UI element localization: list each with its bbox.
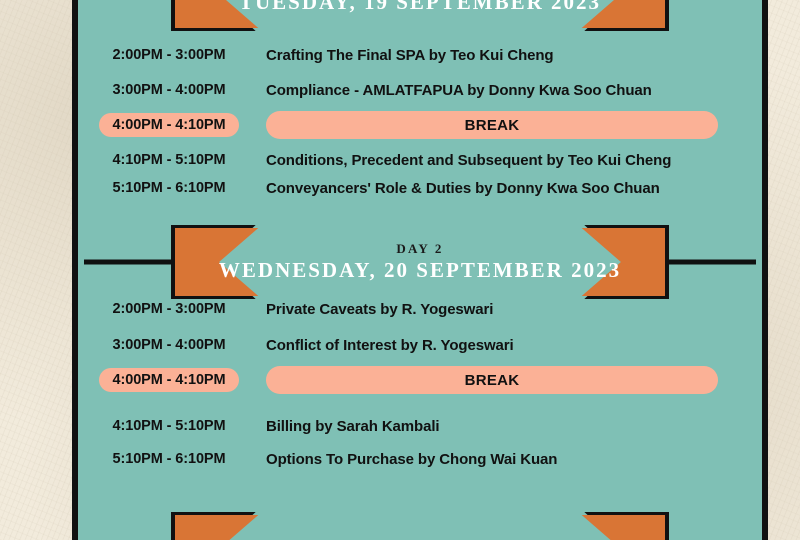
- banner-ribbon: [175, 228, 665, 296]
- row-title: Private Caveats by R. Yogeswari: [260, 301, 762, 318]
- row-time: 2:00PM - 3:00PM: [78, 301, 260, 317]
- row-time: 2:00PM - 3:00PM: [78, 47, 260, 63]
- day-banner-3: DAY 3: [78, 515, 762, 540]
- row-time-break: 4:00PM - 4:10PM: [78, 368, 260, 393]
- schedule-row[interactable]: 4:10PM - 5:10PM Billing by Sarah Kambali: [78, 409, 762, 443]
- schedule-body: DAY 1 TUESDAY, 19 SEPTEMBER 2023 2:00PM …: [78, 0, 762, 540]
- row-time: 4:10PM - 5:10PM: [78, 152, 260, 168]
- schedule-row-break[interactable]: 4:00PM - 4:10PM BREAK: [78, 108, 762, 142]
- schedule-row[interactable]: 5:10PM - 6:10PM Conveyancers' Role & Dut…: [78, 171, 762, 205]
- row-time: 5:10PM - 6:10PM: [78, 451, 260, 467]
- banner-text-group: DAY 2 WEDNESDAY, 20 SEPTEMBER 2023: [175, 228, 665, 296]
- schedule-row[interactable]: 5:10PM - 6:10PM Options To Purchase by C…: [78, 442, 762, 476]
- row-time-break: 4:00PM - 4:10PM: [78, 113, 260, 138]
- row-time: 5:10PM - 6:10PM: [78, 180, 260, 196]
- schedule-row[interactable]: 3:00PM - 4:00PM Conflict of Interest by …: [78, 328, 762, 362]
- row-title: Compliance - AMLATFAPUA by Donny Kwa Soo…: [260, 82, 762, 99]
- row-title: Conditions, Precedent and Subsequent by …: [260, 152, 762, 169]
- schedule-row[interactable]: 2:00PM - 3:00PM Private Caveats by R. Yo…: [78, 292, 762, 326]
- row-title: Billing by Sarah Kambali: [260, 418, 762, 435]
- banner-ribbon: [175, 0, 665, 28]
- day-banner-1: DAY 1 TUESDAY, 19 SEPTEMBER 2023: [78, 0, 762, 28]
- break-bar: BREAK: [266, 366, 718, 394]
- break-time-pill: 4:00PM - 4:10PM: [99, 368, 240, 393]
- schedule-row[interactable]: 2:00PM - 3:00PM Crafting The Final SPA b…: [78, 38, 762, 72]
- row-title: Conveyancers' Role & Duties by Donny Kwa…: [260, 180, 762, 197]
- banner-ribbon: [175, 515, 665, 540]
- row-time: 3:00PM - 4:00PM: [78, 337, 260, 353]
- row-time: 4:10PM - 5:10PM: [78, 418, 260, 434]
- schedule-row[interactable]: 3:00PM - 4:00PM Compliance - AMLATFAPUA …: [78, 73, 762, 107]
- day-date-label: WEDNESDAY, 20 SEPTEMBER 2023: [219, 258, 621, 282]
- day-date-label: TUESDAY, 19 SEPTEMBER 2023: [239, 0, 601, 14]
- day-banner-2: DAY 2 WEDNESDAY, 20 SEPTEMBER 2023: [78, 228, 762, 296]
- schedule-poster-card: DAY 1 TUESDAY, 19 SEPTEMBER 2023 2:00PM …: [72, 0, 768, 540]
- row-title: Conflict of Interest by R. Yogeswari: [260, 337, 762, 354]
- day-number-label: DAY 2: [396, 242, 443, 256]
- schedule-row-break[interactable]: 4:00PM - 4:10PM BREAK: [78, 363, 762, 397]
- row-title: Options To Purchase by Chong Wai Kuan: [260, 451, 762, 468]
- break-bar: BREAK: [266, 111, 718, 139]
- row-title: Crafting The Final SPA by Teo Kui Cheng: [260, 47, 762, 64]
- break-time-pill: 4:00PM - 4:10PM: [99, 113, 240, 138]
- row-time: 3:00PM - 4:00PM: [78, 82, 260, 98]
